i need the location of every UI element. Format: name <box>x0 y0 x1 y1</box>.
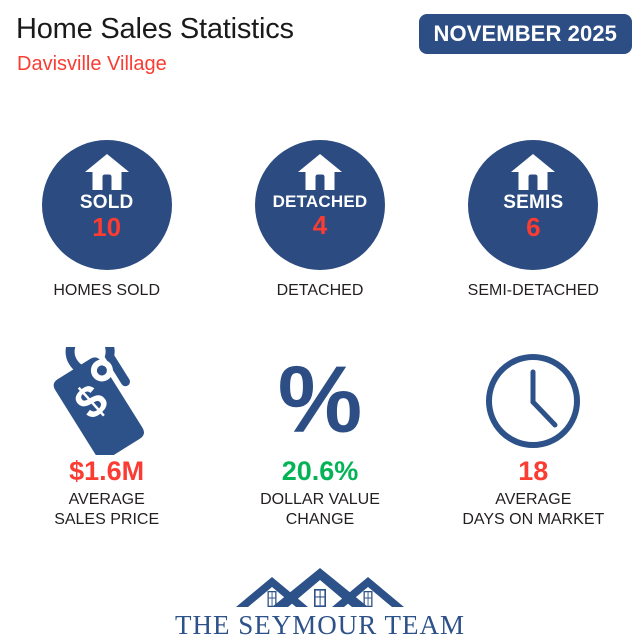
header: Home Sales Statistics Davisville Village… <box>0 0 640 96</box>
page-subtitle: Davisville Village <box>17 53 167 76</box>
circle-value: 10 <box>92 214 121 240</box>
stat-caption: HOMES SOLD <box>53 282 160 301</box>
house-icon <box>85 154 129 190</box>
circle-value: 4 <box>313 212 327 238</box>
icon-container: % <box>278 345 362 457</box>
percent-icon: % <box>278 359 362 443</box>
house-icon <box>298 154 342 190</box>
brand-name: THE SEYMOUR TEAM <box>175 610 465 641</box>
period-badge: NOVEMBER 2025 <box>419 14 632 54</box>
circle-word: SOLD <box>80 193 134 212</box>
stat-value: $1.6M <box>69 458 144 485</box>
stat-circle: DETACHED 4 <box>255 140 385 270</box>
icon-container <box>482 345 584 457</box>
stat-card-detached: DETACHED 4 DETACHED <box>217 140 422 301</box>
stat-value: 18 <box>518 458 548 485</box>
period-badge-label: NOVEMBER 2025 <box>434 22 617 45</box>
stat-caption: DETACHED <box>277 282 364 301</box>
house-icon <box>511 154 555 190</box>
three-roofs-icon <box>230 567 410 609</box>
stat-caption: DOLLAR VALUE CHANGE <box>260 490 380 531</box>
price-tag-icon: $ <box>43 347 171 455</box>
circle-value: 6 <box>526 214 540 240</box>
page-title: Home Sales Statistics <box>16 13 294 46</box>
stat-caption: AVERAGE DAYS ON MARKET <box>462 490 604 531</box>
stat-card-dollar-value-change: % 20.6% DOLLAR VALUE CHANGE <box>217 345 422 531</box>
icon-stats-row: $ $1.6M AVERAGE SALES PRICE % 20.6% DOLL… <box>0 345 640 531</box>
circle-word: DETACHED <box>273 193 368 210</box>
stat-card-semis: SEMIS 6 SEMI-DETACHED <box>431 140 636 301</box>
stat-card-homes-sold: SOLD 10 HOMES SOLD <box>4 140 209 301</box>
stat-caption: SEMI-DETACHED <box>468 282 599 301</box>
clock-icon <box>482 350 584 452</box>
circle-stats-row: SOLD 10 HOMES SOLD DETACHED 4 DETACHED S… <box>0 140 640 301</box>
circle-word: SEMIS <box>503 193 563 212</box>
stat-caption: AVERAGE SALES PRICE <box>54 490 159 531</box>
stat-card-days-on-market: 18 AVERAGE DAYS ON MARKET <box>431 345 636 531</box>
icon-container: $ <box>43 345 171 457</box>
stat-card-average-sales-price: $ $1.6M AVERAGE SALES PRICE <box>4 345 209 531</box>
stat-circle: SOLD 10 <box>42 140 172 270</box>
stat-circle: SEMIS 6 <box>468 140 598 270</box>
footer-logo: THE SEYMOUR TEAM <box>0 567 640 641</box>
stat-value: 20.6% <box>282 458 359 485</box>
